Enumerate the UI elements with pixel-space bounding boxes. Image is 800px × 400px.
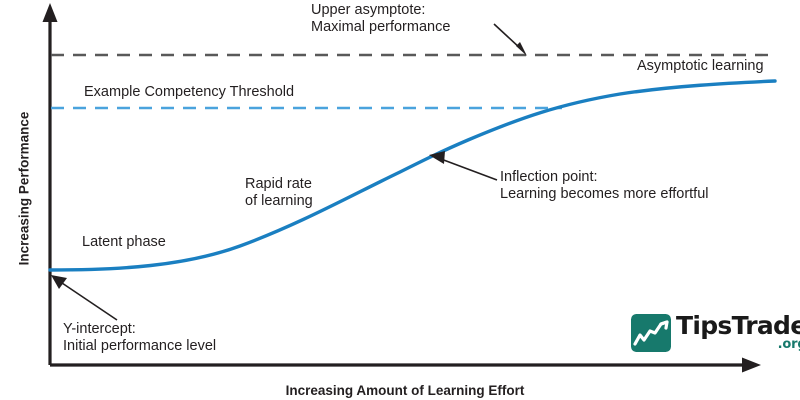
annotation-inflection-point: Inflection point: Learning becomes more … [500, 169, 709, 203]
brand-wordmark: TipsTrade .org [676, 313, 800, 353]
tipstrade-logo[interactable]: TipsTrade .org [631, 312, 800, 354]
annotation-upper-asymptote: Upper asymptote: Maximal performance [311, 2, 450, 36]
annotation-rapid-rate-of-learning: Rapid rate of learning [245, 176, 313, 210]
annotation-asymptotic-learning: Asymptotic learning [637, 58, 764, 75]
y-axis-title: Increasing Performance [17, 84, 32, 294]
y-intercept-leader [51, 275, 117, 320]
annotation-latent-phase: Latent phase [82, 234, 166, 251]
upper-asymptote-leader [494, 24, 527, 56]
x-axis-title: Increasing Amount of Learning Effort [50, 383, 760, 398]
brand-tld: .org [676, 339, 800, 351]
annotation-competency-threshold: Example Competency Threshold [84, 84, 294, 101]
brand-name: TipsTrade [676, 313, 800, 339]
annotation-y-intercept: Y-intercept: Initial performance level [63, 321, 216, 355]
chart-line-icon [631, 314, 671, 352]
inflection-point-leader [429, 151, 497, 180]
learning-curve-figure: Upper asymptote: Maximal performance Exa… [0, 0, 800, 400]
x-axis-arrowhead [742, 358, 761, 373]
y-axis-arrowhead [43, 3, 58, 22]
